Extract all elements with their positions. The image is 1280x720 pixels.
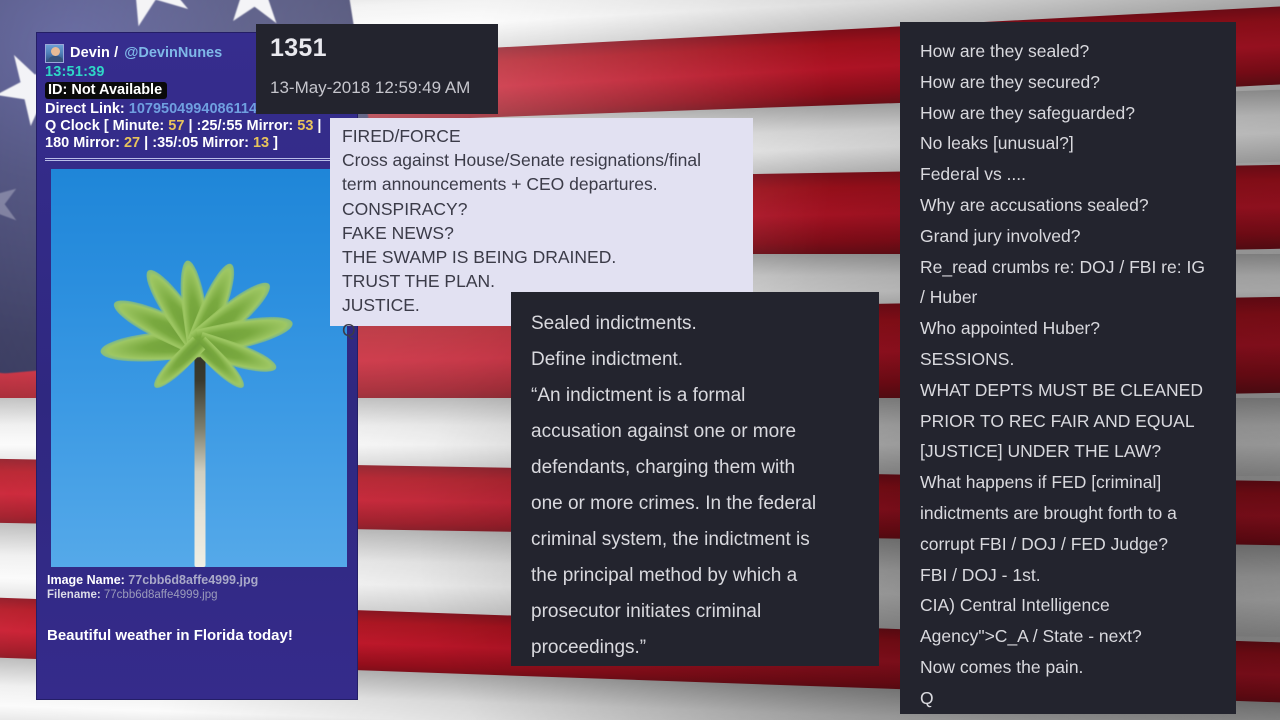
qclock-mid-2: | xyxy=(317,118,321,134)
light-panel-line: TRUST THE PLAN. xyxy=(342,269,743,293)
sealed-indictments-line: defendants, charging them with xyxy=(531,450,859,486)
question-line: How are they safeguarded? xyxy=(920,98,1218,129)
sealed-indictments-line: “An indictment is a formal xyxy=(531,378,859,414)
question-line: How are they secured? xyxy=(920,67,1218,98)
sealed-indictments-line: the principal method by which a xyxy=(531,558,859,594)
sealed-indictments-line: Define indictment. xyxy=(531,342,859,378)
author-handle[interactable]: @DevinNunes xyxy=(124,45,222,61)
qclock-end: ] xyxy=(273,135,278,151)
post-number-panel: 1351 13-May-2018 12:59:49 AM xyxy=(256,24,498,114)
post-number: 1351 xyxy=(270,34,484,63)
question-line: Who appointed Huber? xyxy=(920,313,1218,344)
filename-value: 77cbb6d8affe4999.jpg xyxy=(104,589,218,601)
question-line: PRIOR TO REC FAIR AND EQUAL xyxy=(920,406,1218,437)
divider xyxy=(45,158,349,161)
post-panel: Devin / @DevinNunes 13:51:39 ID: Not Ava… xyxy=(36,32,358,700)
questions-panel: How are they sealed?How are they secured… xyxy=(900,22,1236,714)
question-line: Now comes the pain. xyxy=(920,652,1218,683)
direct-link-label: Direct Link: xyxy=(45,101,125,117)
light-panel-line: CONSPIRACY? xyxy=(342,197,743,221)
question-line: How are they sealed? xyxy=(920,36,1218,67)
qclock-mid-3: | :35/:05 Mirror: xyxy=(144,135,249,151)
image-name-value: 77cbb6d8affe4999.jpg xyxy=(128,573,258,587)
qclock-180-mirror: 27 xyxy=(124,135,140,151)
question-line: Agency">C_A / State - next? xyxy=(920,621,1218,652)
qclock-minute: 57 xyxy=(168,118,184,134)
light-panel-line: Cross against House/Senate resignations/… xyxy=(342,148,743,172)
palm-trunk xyxy=(195,328,206,567)
qclock-line-1: Q Clock [ Minute: 57 | :25/:55 Mirror: 5… xyxy=(45,118,351,134)
question-line: corrupt FBI / DOJ / FED Judge? xyxy=(920,529,1218,560)
sealed-indictments-line: one or more crimes. In the federal xyxy=(531,486,859,522)
question-line: indictments are brought forth to a xyxy=(920,498,1218,529)
light-panel-line: term announcements + CEO departures. xyxy=(342,172,743,196)
qclock-mid-1: | :25/:55 Mirror: xyxy=(188,118,293,134)
question-line: [JUSTICE] UNDER THE LAW? xyxy=(920,436,1218,467)
question-line: WHAT DEPTS MUST BE CLEANED xyxy=(920,375,1218,406)
question-line: / Huber xyxy=(920,282,1218,313)
post-image[interactable] xyxy=(51,169,347,567)
question-line: CIA) Central Intelligence xyxy=(920,590,1218,621)
sealed-indictments-line: proceedings.” xyxy=(531,630,859,666)
question-line: Why are accusations sealed? xyxy=(920,190,1218,221)
question-line: SESSIONS. xyxy=(920,344,1218,375)
light-panel-line: FIRED/FORCE xyxy=(342,124,743,148)
filename-label: Filename: xyxy=(47,589,101,601)
qclock-mirror-2: 13 xyxy=(253,135,269,151)
qclock-line-2: 180 Mirror: 27 | :35/:05 Mirror: 13 ] xyxy=(45,135,351,151)
qclock-prefix: Q Clock [ Minute: xyxy=(45,118,164,134)
question-line: FBI / DOJ - 1st. xyxy=(920,560,1218,591)
question-line: What happens if FED [criminal] xyxy=(920,467,1218,498)
qclock-mirror: 53 xyxy=(297,118,313,134)
direct-link-value[interactable]: 107950499408611408 xyxy=(129,101,273,117)
image-name-row: Image Name: 77cbb6d8affe4999.jpg xyxy=(47,573,351,587)
sealed-indictments-line: criminal system, the indictment is xyxy=(531,522,859,558)
sealed-indictments-line: Sealed indictments. xyxy=(531,306,859,342)
light-panel-line: THE SWAMP IS BEING DRAINED. xyxy=(342,245,743,269)
question-line: Re_read crumbs re: DOJ / FBI re: IG xyxy=(920,252,1218,283)
post-caption: Beautiful weather in Florida today! xyxy=(47,627,351,644)
sealed-indictments-line: prosecutor initiates criminal xyxy=(531,594,859,630)
question-line: Federal vs .... xyxy=(920,159,1218,190)
avatar xyxy=(45,44,64,63)
status-badge: ID: Not Available xyxy=(45,82,167,99)
light-panel-line: FAKE NEWS? xyxy=(342,221,743,245)
post-date: 13-May-2018 12:59:49 AM xyxy=(270,78,484,98)
sealed-indictments-line: accusation against one or more xyxy=(531,414,859,450)
question-line: No leaks [unusual?] xyxy=(920,128,1218,159)
flag-star-icon xyxy=(0,170,29,236)
qclock-180-label: 180 Mirror: xyxy=(45,135,120,151)
author-name: Devin / xyxy=(70,45,118,61)
filename-row: Filename: 77cbb6d8affe4999.jpg xyxy=(47,589,351,601)
image-name-label: Image Name: xyxy=(47,573,125,587)
question-line: Q xyxy=(920,683,1218,714)
sealed-indictments-panel: Sealed indictments.Define indictment.“An… xyxy=(511,292,879,666)
question-line: Grand jury involved? xyxy=(920,221,1218,252)
